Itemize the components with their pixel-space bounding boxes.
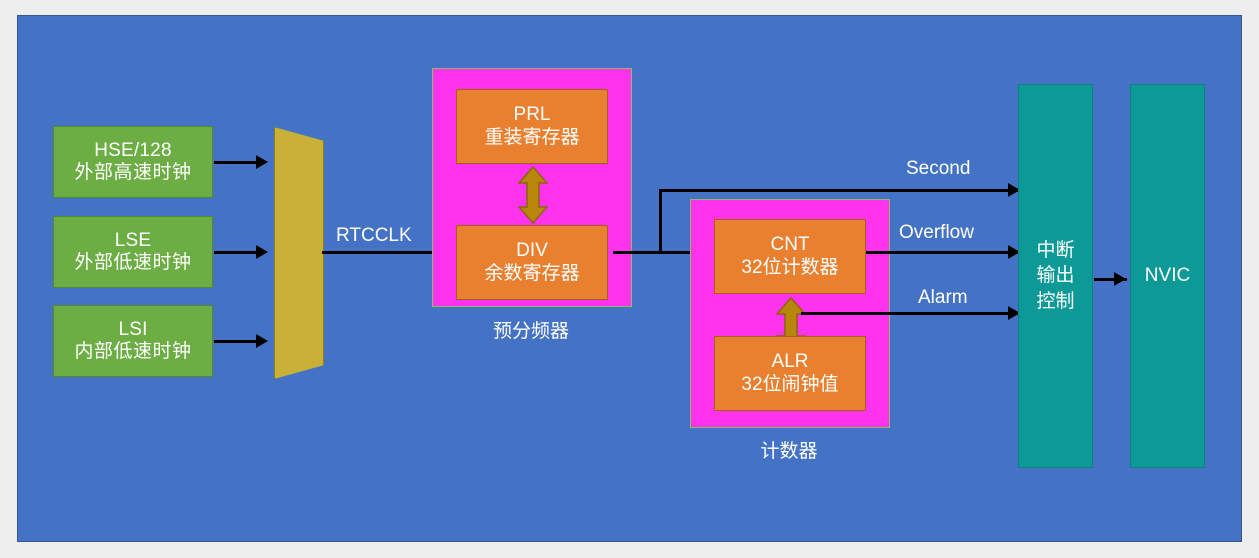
wire-div-branch-riser bbox=[659, 189, 662, 254]
register-alr-name: ALR bbox=[772, 351, 809, 373]
register-prl[interactable]: PRL 重装寄存器 bbox=[456, 89, 608, 164]
clock-source-multiplexer[interactable] bbox=[274, 127, 324, 379]
register-div-name: DIV bbox=[516, 240, 548, 262]
wire-hse-to-mux bbox=[214, 161, 258, 164]
register-prl-name: PRL bbox=[514, 104, 551, 126]
signal-label-alarm: Alarm bbox=[918, 287, 968, 309]
clock-source-lse-name: LSE bbox=[115, 230, 152, 252]
signal-label-rtcclk: RTCCLK bbox=[336, 225, 412, 247]
interrupt-control-line-3: 控制 bbox=[1036, 289, 1074, 315]
register-alr[interactable]: ALR 32位闹钟值 bbox=[714, 336, 866, 411]
clock-source-hse[interactable]: HSE/128 外部高速时钟 bbox=[53, 126, 213, 198]
interrupt-control-line-2: 输出 bbox=[1036, 263, 1074, 289]
register-alr-desc: 32位闹钟值 bbox=[741, 374, 838, 396]
arrow-interrupt-to-nvic bbox=[1114, 272, 1126, 286]
interrupt-control-line-1: 中断 bbox=[1036, 238, 1074, 264]
wire-alarm-to-interrupt bbox=[801, 312, 1021, 315]
signal-label-overflow: Overflow bbox=[899, 222, 974, 244]
register-div[interactable]: DIV 余数寄存器 bbox=[456, 225, 608, 300]
diagram-canvas: HSE/128 外部高速时钟 LSE 外部低速时钟 LSI 内部低速时钟 RTC… bbox=[17, 15, 1242, 542]
wire-overflow-to-interrupt bbox=[866, 251, 1021, 254]
clock-source-hse-name: HSE/128 bbox=[94, 140, 171, 162]
register-div-desc: 余数寄存器 bbox=[484, 263, 579, 285]
clock-source-lse-desc: 外部低速时钟 bbox=[74, 252, 191, 274]
arrow-lsi-to-mux bbox=[256, 334, 268, 348]
clock-source-lsi-name: LSI bbox=[118, 319, 147, 341]
wire-lse-to-mux bbox=[214, 251, 258, 254]
register-cnt[interactable]: CNT 32位计数器 bbox=[714, 219, 866, 294]
register-cnt-desc: 32位计数器 bbox=[741, 257, 838, 279]
wire-div-to-cnt bbox=[613, 251, 698, 254]
signal-label-second: Second bbox=[906, 158, 970, 180]
clock-source-lsi[interactable]: LSI 内部低速时钟 bbox=[53, 305, 213, 377]
wire-second-to-interrupt bbox=[659, 189, 1021, 192]
clock-source-lsi-desc: 内部低速时钟 bbox=[74, 341, 191, 363]
nvic-label: NVIC bbox=[1145, 265, 1190, 287]
wire-lsi-to-mux bbox=[214, 340, 258, 343]
register-prl-desc: 重装寄存器 bbox=[484, 127, 579, 149]
clock-source-hse-desc: 外部高速时钟 bbox=[74, 162, 191, 184]
register-cnt-name: CNT bbox=[770, 234, 809, 256]
counter-caption: 计数器 bbox=[690, 436, 888, 463]
interrupt-output-control[interactable]: 中断 输出 控制 bbox=[1018, 84, 1093, 468]
clock-source-lse[interactable]: LSE 外部低速时钟 bbox=[53, 216, 213, 288]
double-arrow-prl-div bbox=[517, 166, 549, 224]
arrow-lse-to-mux bbox=[256, 245, 268, 259]
arrow-hse-to-mux bbox=[256, 155, 268, 169]
prescaler-caption: 预分频器 bbox=[432, 316, 630, 343]
nvic-block[interactable]: NVIC bbox=[1130, 84, 1205, 468]
diagram-stage: HSE/128 外部高速时钟 LSE 外部低速时钟 LSI 内部低速时钟 RTC… bbox=[0, 0, 1259, 558]
